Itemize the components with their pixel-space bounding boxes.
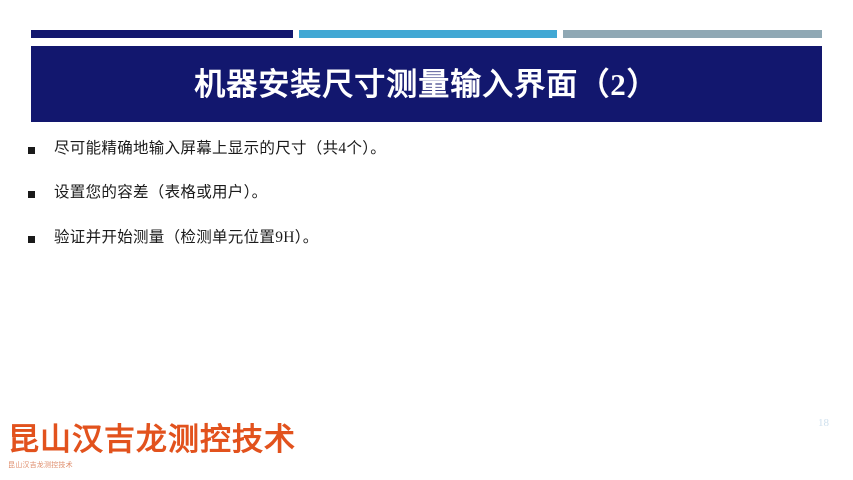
title-banner: 机器安装尺寸测量输入界面（2） bbox=[31, 46, 822, 122]
list-item: 设置您的容差（表格或用户）。 bbox=[28, 182, 728, 204]
list-item: 验证并开始测量（检测单元位置9H）。 bbox=[28, 227, 728, 249]
square-bullet-icon bbox=[28, 147, 35, 154]
company-logo: 昆山汉吉龙测控技术 昆山汉吉龙测控技术 bbox=[8, 424, 328, 470]
logo-primary-text: 昆山汉吉龙测控技术 bbox=[8, 424, 328, 457]
page-title: 机器安装尺寸测量输入界面（2） bbox=[194, 69, 659, 100]
list-item-label: 尽可能精确地输入屏幕上显示的尺寸（共4个）。 bbox=[54, 138, 386, 160]
slide-canvas: 机器安装尺寸测量输入界面（2） 尽可能精确地输入屏幕上显示的尺寸（共4个）。 设… bbox=[0, 0, 853, 480]
decor-segment-blue bbox=[299, 30, 557, 38]
square-bullet-icon bbox=[28, 191, 35, 198]
list-item-label: 验证并开始测量（检测单元位置9H）。 bbox=[54, 227, 319, 249]
bullet-list: 尽可能精确地输入屏幕上显示的尺寸（共4个）。 设置您的容差（表格或用户）。 验证… bbox=[28, 138, 728, 271]
decor-segment-navy bbox=[31, 30, 293, 38]
list-item-label: 设置您的容差（表格或用户）。 bbox=[54, 182, 267, 204]
logo-secondary-text: 昆山汉吉龙测控技术 bbox=[8, 460, 328, 470]
page-number: 18 bbox=[818, 417, 829, 429]
square-bullet-icon bbox=[28, 236, 35, 243]
decorative-top-bar bbox=[31, 30, 822, 38]
list-item: 尽可能精确地输入屏幕上显示的尺寸（共4个）。 bbox=[28, 138, 728, 160]
decor-segment-gray bbox=[563, 30, 822, 38]
